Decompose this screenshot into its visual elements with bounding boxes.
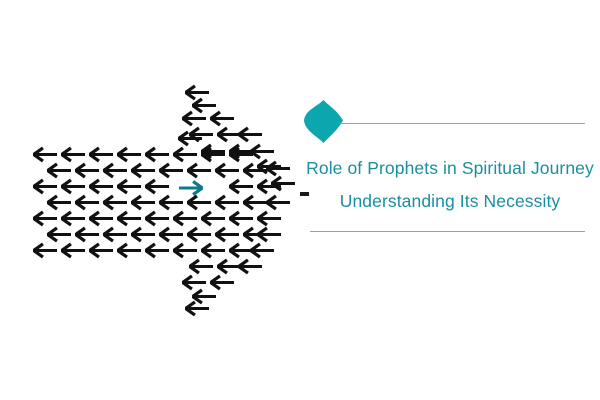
title-rule-top	[340, 123, 585, 124]
contrarian-arrow	[179, 180, 203, 196]
diamond-marker-icon	[303, 99, 344, 144]
crowd-arrows-group	[33, 85, 295, 317]
slide-canvas: Role of Prophets in Spiritual Journey Un…	[0, 0, 600, 400]
page-title-line-2: Understanding Its Necessity	[300, 191, 600, 212]
title-block: Role of Prophets in Spiritual Journey Un…	[300, 90, 600, 250]
crowd-arrow-illustration	[0, 0, 300, 400]
title-rule-bottom	[310, 231, 585, 232]
crowd-arrow-svg	[0, 0, 300, 400]
page-title-line-1: Role of Prophets in Spiritual Journey	[300, 158, 600, 179]
